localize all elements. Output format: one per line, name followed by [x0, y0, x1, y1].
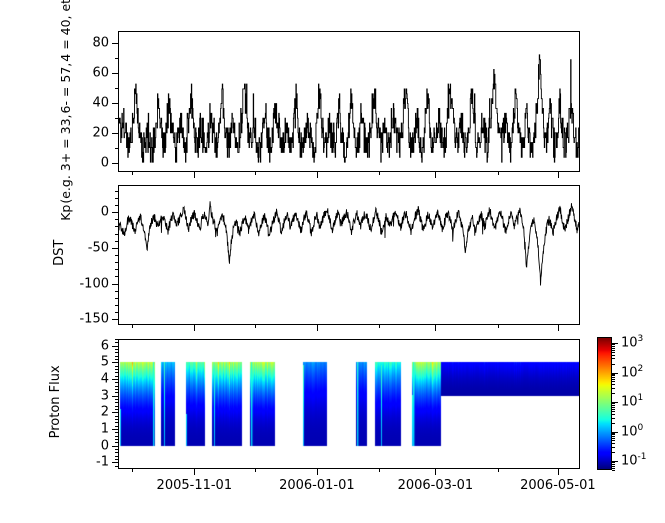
kp-axis-note-line-2: 6- = 57, [59, 62, 72, 113]
colorbar-tick-label: 101 [621, 396, 643, 409]
colorbar-ticks: 10-1100101102103 [597, 337, 612, 470]
colorbar-minor-tick [612, 466, 615, 467]
colorbar-minor-tick [612, 350, 615, 351]
y-tick-label: 0 [101, 157, 109, 170]
colorbar-major-tick [612, 461, 618, 462]
colorbar-minor-tick [612, 358, 615, 359]
x-minor-tick [132, 325, 133, 328]
colorbar-minor-tick [612, 375, 615, 376]
colorbar-minor-tick [612, 433, 615, 434]
scientific-figure: 020406080 Kp (e.g. 3+ = 33, 6- = 57, 4 =… [0, 0, 665, 523]
y-tick-label: 2 [101, 406, 109, 419]
colorbar-minor-tick [612, 393, 615, 394]
colorbar-minor-tick [612, 447, 615, 448]
colorbar-minor-tick [612, 348, 615, 349]
colorbar-minor-tick [612, 346, 615, 347]
colorbar-minor-tick [612, 381, 615, 382]
y-tick-label: -100 [79, 277, 109, 290]
x-major-tick [194, 172, 195, 178]
x-major-tick [317, 469, 318, 475]
y-tick-label: -150 [79, 313, 109, 326]
x-minor-tick [379, 172, 380, 175]
colorbar-major-tick [612, 432, 618, 433]
colorbar-tick-label: 102 [621, 366, 643, 379]
kp-axis-title: Kp (e.g. 3+ = 33, 6- = 57, 4 = 40, etc.) [33, 32, 99, 172]
colorbar-minor-tick [612, 364, 615, 365]
proton-flux-axis-title: Proton Flux [49, 357, 63, 447]
x-minor-tick [498, 172, 499, 175]
proton-flux-panel [118, 339, 580, 469]
dst-axis-title: DST [53, 223, 67, 283]
x-major-tick [317, 172, 318, 178]
x-minor-tick [379, 325, 380, 328]
colorbar-minor-tick [612, 462, 615, 463]
kp-axis-note-line-1: (e.g. 3+ = 33, [59, 114, 72, 203]
y-tick-label: 5 [101, 356, 109, 369]
colorbar-minor-tick [612, 384, 615, 385]
kp-trace [119, 55, 579, 162]
x-major-tick [194, 469, 195, 475]
colorbar-minor-tick [612, 438, 615, 439]
colorbar-major-tick [612, 402, 618, 403]
colorbar-minor-tick [612, 440, 615, 441]
colorbar-minor-tick [612, 374, 615, 375]
colorbar-major-tick [612, 373, 618, 374]
y-tick-label: -50 [88, 241, 109, 254]
colorbar-minor-tick [612, 470, 615, 471]
colorbar-minor-tick [612, 403, 615, 404]
y-tick-label: -1 [96, 456, 109, 469]
x-minor-tick [132, 172, 133, 175]
x-major-tick [435, 469, 436, 475]
colorbar-major-tick [612, 343, 618, 344]
x-tick-label: 2006-01-01 [279, 479, 355, 492]
colorbar-minor-tick [612, 405, 615, 406]
x-major-tick [317, 325, 318, 331]
colorbar-minor-tick [612, 436, 615, 437]
y-tick-label: 3 [101, 389, 109, 402]
colorbar-minor-tick [612, 379, 615, 380]
x-tick-label: 2005-11-01 [157, 479, 233, 492]
x-tick-label: 2006-03-01 [398, 479, 474, 492]
colorbar-minor-tick [612, 352, 615, 353]
x-major-tick [558, 325, 559, 331]
colorbar-minor-tick [612, 414, 615, 415]
colorbar-minor-tick [612, 407, 615, 408]
dst-panel [118, 185, 580, 325]
colorbar-minor-tick [612, 377, 615, 378]
colorbar-minor-tick [612, 344, 615, 345]
x-minor-tick [498, 469, 499, 472]
x-minor-tick [132, 469, 133, 472]
x-major-tick [558, 172, 559, 178]
x-major-tick [558, 469, 559, 475]
colorbar-tick-label: 10-1 [621, 455, 647, 468]
colorbar-minor-tick [612, 468, 615, 469]
y-tick-label: 6 [101, 339, 109, 352]
colorbar-minor-tick [612, 411, 615, 412]
kp-axis-title-main: Kp [59, 204, 72, 220]
colorbar-minor-tick [612, 388, 615, 389]
x-minor-tick [255, 325, 256, 328]
kp-series-plot [119, 32, 579, 171]
y-tick-label: 4 [101, 373, 109, 386]
kp-panel [118, 31, 580, 172]
colorbar-minor-tick [612, 355, 615, 356]
colorbar-minor-tick [612, 418, 615, 419]
colorbar-minor-tick [612, 409, 615, 410]
proton-flux-heatmap [119, 340, 579, 468]
x-major-tick [194, 325, 195, 331]
x-major-tick [435, 325, 436, 331]
colorbar-minor-tick [612, 434, 615, 435]
x-minor-tick [255, 469, 256, 472]
y-tick-label: 0 [101, 206, 109, 219]
x-minor-tick [379, 469, 380, 472]
x-tick-label: 2006-05-01 [520, 479, 596, 492]
colorbar-minor-tick [612, 452, 615, 453]
colorbar-tick-label: 100 [621, 425, 643, 438]
y-tick-label: 0 [101, 439, 109, 452]
x-major-tick [435, 172, 436, 178]
x-minor-tick [498, 325, 499, 328]
colorbar-minor-tick [612, 423, 615, 424]
y-tick-label: 1 [101, 423, 109, 436]
colorbar-minor-tick [612, 443, 615, 444]
x-minor-tick [255, 172, 256, 175]
colorbar-minor-tick [612, 464, 615, 465]
colorbar-tick-label: 103 [621, 337, 643, 350]
kp-axis-note-line-3: 4 = 40, etc.) [59, 0, 72, 61]
dst-series-plot [119, 186, 579, 324]
dst-trace [119, 201, 579, 285]
